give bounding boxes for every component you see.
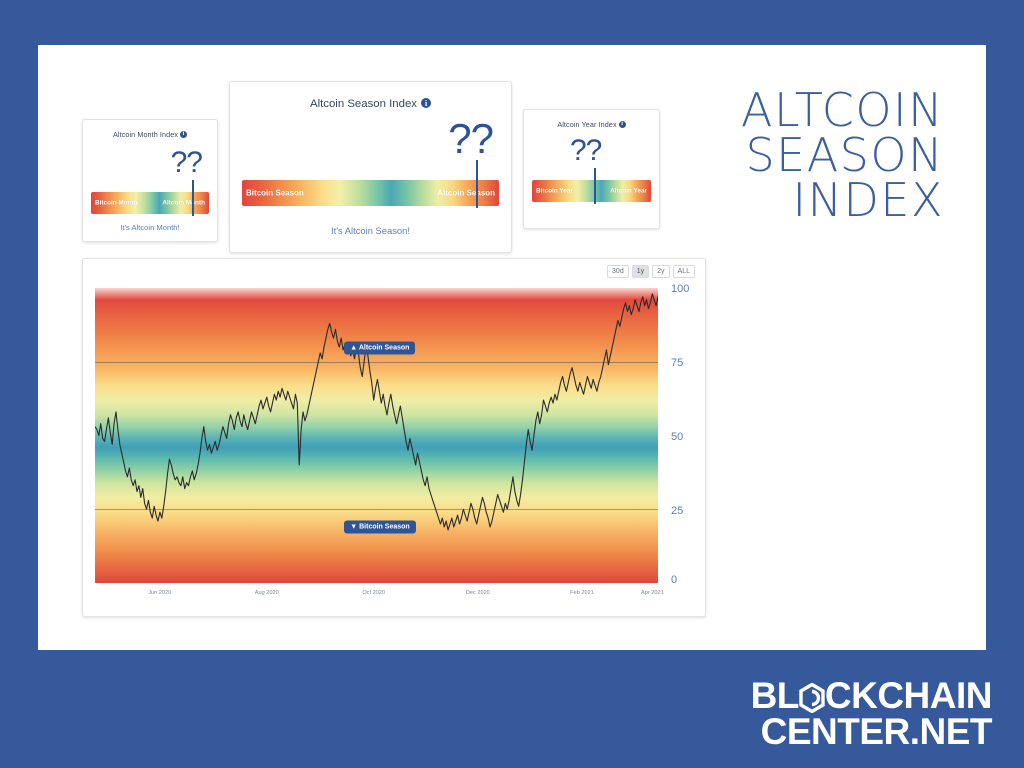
y-axis-label-0: 0 <box>671 574 677 586</box>
info-icon[interactable]: i <box>421 98 431 108</box>
bar-right-label: Altcoin Year <box>610 188 647 195</box>
bar-left-label: Bitcoin Year <box>536 188 573 195</box>
x-axis-tick-4: Feb 2021 <box>570 590 594 596</box>
range-button-1y[interactable]: 1y <box>632 265 649 278</box>
y-axis-label-75: 75 <box>671 357 683 369</box>
bar-right-label: Altcoin Month <box>162 200 205 207</box>
y-axis-label-50: 50 <box>671 431 683 443</box>
index-line-series <box>95 288 658 583</box>
gauge-marker <box>476 160 478 208</box>
altcoin-month-status-text: It's Altcoin Month! <box>83 223 217 232</box>
altcoin-year-index-card[interactable]: Altcoin Year Indexi ?? Bitcoin Year Altc… <box>523 109 660 229</box>
altcoin-month-index-card[interactable]: Altcoin Month Indexi ?? Bitcoin Month Al… <box>82 119 218 242</box>
logo-text-bl: BL <box>751 675 799 716</box>
altcoin-year-gauge: Bitcoin Year Altcoin Year <box>532 180 651 202</box>
range-button-2y[interactable]: 2y <box>652 265 669 278</box>
hexagon-o-icon <box>799 683 825 713</box>
y-axis-label-25: 25 <box>671 505 683 517</box>
altcoin-month-index-value: ?? <box>171 148 202 178</box>
gauge-marker <box>192 180 194 216</box>
altcoin-season-index-value: ?? <box>448 118 493 160</box>
altcoin-season-status-text: It's Altcoin Season! <box>230 225 511 236</box>
altcoin-season-badge: ▲ Altcoin Season <box>344 342 415 355</box>
x-axis-tick-3: Dec 2020 <box>466 590 490 596</box>
altcoin-season-index-chart-panel: 30d1y2yALL ▲ Altcoin Season ▼ Bitcoin Se… <box>82 258 706 617</box>
card-title: Altcoin Year Indexi <box>524 120 659 129</box>
altcoin-season-gauge: Bitcoin Season Altcoin Season <box>242 180 499 206</box>
altcoin-season-index-card[interactable]: Altcoin Season Indexi ?? Bitcoin Season … <box>229 81 512 253</box>
bar-left-label: Bitcoin Season <box>246 189 304 198</box>
range-button-all[interactable]: ALL <box>673 265 695 278</box>
bar-left-label: Bitcoin Month <box>95 200 138 207</box>
altcoin-year-index-value: ?? <box>570 136 601 166</box>
logo-text-ckchain: CKCHAIN <box>825 675 992 716</box>
x-axis-tick-0: Jun 2020 <box>148 590 171 596</box>
page-title: ALTCOIN SEASON INDEX <box>654 88 944 223</box>
x-axis-tick-2: Oct 2020 <box>362 590 385 596</box>
logo-line-2: CENTER.NET <box>751 714 992 750</box>
y-axis-label-100: 100 <box>671 283 689 295</box>
page-title-line-3: INDEX <box>654 178 944 223</box>
altcoin-month-gauge: Bitcoin Month Altcoin Month <box>91 192 209 214</box>
altcoin-season-index-title: Altcoin Season Index <box>310 98 417 110</box>
x-axis-tick-5: Apr 2021 <box>641 590 664 596</box>
card-title: Altcoin Season Indexi <box>230 98 511 110</box>
info-icon[interactable]: i <box>619 121 626 128</box>
index-widgets-row: Altcoin Month Indexi ?? Bitcoin Month Al… <box>82 81 706 253</box>
info-icon[interactable]: i <box>180 131 187 138</box>
x-axis-tick-1: Aug 2020 <box>255 590 279 596</box>
card-title: Altcoin Month Indexi <box>83 130 217 139</box>
range-button-30d[interactable]: 30d <box>607 265 629 278</box>
gauge-marker <box>594 168 596 204</box>
page-title-line-1: ALTCOIN <box>654 88 944 133</box>
chart-plot-area[interactable] <box>95 288 658 583</box>
chart-range-buttons[interactable]: 30d1y2yALL <box>607 265 695 278</box>
blockchaincenter-logo[interactable]: BLCKCHAIN CENTER.NET <box>751 678 992 750</box>
bar-right-label: Altcoin Season <box>437 189 495 198</box>
logo-line-1: BLCKCHAIN <box>751 678 992 714</box>
altcoin-year-index-title: Altcoin Year Index <box>557 120 616 129</box>
altcoin-month-index-title: Altcoin Month Index <box>113 130 178 139</box>
page-title-line-2: SEASON <box>654 133 944 178</box>
bitcoin-season-badge: ▼ Bitcoin Season <box>344 520 415 533</box>
